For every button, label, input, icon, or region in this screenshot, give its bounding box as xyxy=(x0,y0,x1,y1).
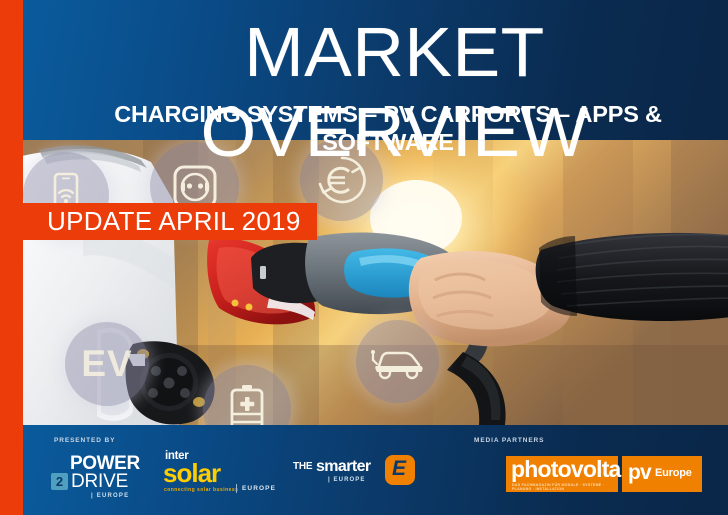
left-accent-bar xyxy=(0,0,23,515)
smarter-e-word-smarter: smarter xyxy=(316,459,371,475)
cover-photo: EV xyxy=(23,140,728,425)
photovoltaik-subline: DAS FACHMAGAZIN FÜR MODULE · SYSTEME · P… xyxy=(512,483,618,491)
update-banner-label: UPDATE APRIL 2019 xyxy=(47,206,301,237)
pv-europe-suffix: Europe xyxy=(655,468,692,479)
partner-logo-row: POWER 2 DRIVE | EUROPE inter solar conne… xyxy=(23,425,728,515)
power2drive-word-drive: DRIVE xyxy=(71,472,128,491)
intersolar-divider xyxy=(236,484,237,493)
power2drive-badge-label: 2 xyxy=(56,475,63,488)
photo-icon-overlay: EV xyxy=(23,140,728,425)
cover-footer: PRESENTED BY MEDIA PARTNERS POWER 2 DRIV… xyxy=(23,425,728,515)
electric-car-icon xyxy=(356,320,439,403)
intersolar-word-solar: solar xyxy=(163,460,220,486)
intersolar-region: EUROPE xyxy=(242,485,276,492)
update-banner: UPDATE APRIL 2019 xyxy=(23,203,317,240)
smarter-e-region: | EUROPE xyxy=(328,477,366,483)
page-subtitle: CHARGING SYSTEMS – PV CARPORTS – APPS & … xyxy=(63,100,713,156)
ev-text-icon: EV xyxy=(65,322,149,406)
logo-intersolar[interactable]: inter solar connecting solar business EU… xyxy=(163,451,281,499)
cover-header: MARKET OVERVIEW CHARGING SYSTEMS – PV CA… xyxy=(23,0,728,140)
power2drive-badge-icon: 2 xyxy=(51,473,68,490)
battery-plus-icon xyxy=(203,365,291,425)
market-overview-cover: MARKET OVERVIEW CHARGING SYSTEMS – PV CA… xyxy=(0,0,728,515)
smarter-e-badge-label: E xyxy=(392,458,406,479)
photovoltaik-wordmark: photovoltaik xyxy=(511,458,638,481)
intersolar-tagline: connecting solar business xyxy=(164,487,238,493)
smarter-e-badge-icon: E xyxy=(385,455,415,485)
logo-pv-europe[interactable]: pv Europe xyxy=(622,456,702,492)
logo-power2drive[interactable]: POWER 2 DRIVE | EUROPE xyxy=(51,454,151,502)
logo-the-smarter-e[interactable]: THE smarter | EUROPE E xyxy=(293,459,413,499)
logo-photovoltaik[interactable]: photovoltaik DAS FACHMAGAZIN FÜR MODULE … xyxy=(506,456,618,492)
ev-label: EV xyxy=(81,343,132,385)
smarter-e-word-the: THE xyxy=(293,462,312,472)
power2drive-region: | EUROPE xyxy=(91,493,129,499)
pv-europe-wordmark: pv xyxy=(628,462,651,483)
